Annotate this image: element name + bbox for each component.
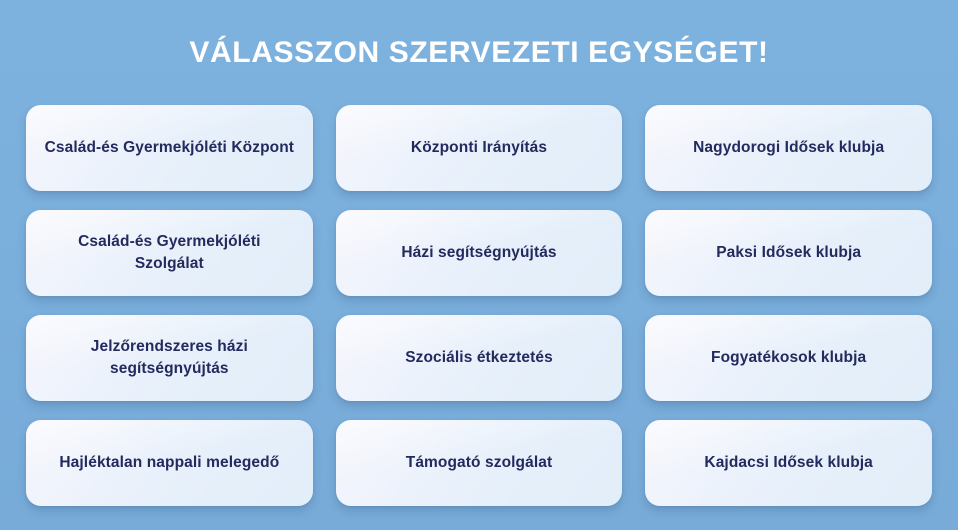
org-unit-card-fogyatekosok-klubja[interactable]: Fogyatékosok klubja	[645, 315, 932, 401]
org-unit-card-label: Fogyatékosok klubja	[711, 347, 866, 369]
org-unit-card-label: Központi Irányítás	[411, 137, 547, 159]
page-title: VÁLASSZON SZERVEZETI EGYSÉGET!	[189, 36, 768, 69]
org-unit-card-label: Jelzőrendszeres házi segítségnyújtás	[42, 336, 297, 380]
org-unit-card-label: Hajléktalan nappali melegedő	[59, 452, 279, 474]
org-unit-card-nagydorogi-idosek-klubja[interactable]: Nagydorogi Idősek klubja	[645, 105, 932, 191]
org-unit-card-csalad-es-gyermekjoleti-kozpont[interactable]: Család-és Gyermekjóléti Központ	[26, 105, 313, 191]
org-unit-card-kajdacsi-idosek-klubja[interactable]: Kajdacsi Idősek klubja	[645, 420, 932, 506]
org-unit-card-kozponti-iranyitas[interactable]: Központi Irányítás	[336, 105, 623, 191]
org-unit-card-csalad-es-gyermekjoleti-szolgalat[interactable]: Család-és Gyermekjóléti Szolgálat	[26, 210, 313, 296]
org-unit-card-label: Nagydorogi Idősek klubja	[693, 137, 884, 159]
org-unit-selector-page: VÁLASSZON SZERVEZETI EGYSÉGET! Család-és…	[0, 0, 958, 530]
org-unit-card-label: Támogató szolgálat	[406, 452, 552, 474]
org-unit-card-hazi-segitsegnyujtas[interactable]: Házi segítségnyújtás	[336, 210, 623, 296]
org-unit-card-label: Család-és Gyermekjóléti Központ	[45, 137, 294, 159]
org-unit-card-grid: Család-és Gyermekjóléti Központ Központi…	[26, 105, 932, 506]
org-unit-card-szocialis-etkeztetes[interactable]: Szociális étkeztetés	[336, 315, 623, 401]
org-unit-card-label: Kajdacsi Idősek klubja	[704, 452, 872, 474]
org-unit-card-label: Paksi Idősek klubja	[716, 242, 861, 264]
org-unit-card-label: Szociális étkeztetés	[405, 347, 553, 369]
org-unit-card-tamogato-szolgalat[interactable]: Támogató szolgálat	[336, 420, 623, 506]
org-unit-card-label: Család-és Gyermekjóléti Szolgálat	[42, 231, 297, 275]
org-unit-card-jelzorendszeres-hazi-segitsegnyujtas[interactable]: Jelzőrendszeres házi segítségnyújtás	[26, 315, 313, 401]
org-unit-card-hajlektalan-nappali-melegedo[interactable]: Hajléktalan nappali melegedő	[26, 420, 313, 506]
page-header: VÁLASSZON SZERVEZETI EGYSÉGET!	[26, 0, 932, 105]
org-unit-card-label: Házi segítségnyújtás	[401, 242, 556, 264]
org-unit-card-paksi-idosek-klubja[interactable]: Paksi Idősek klubja	[645, 210, 932, 296]
